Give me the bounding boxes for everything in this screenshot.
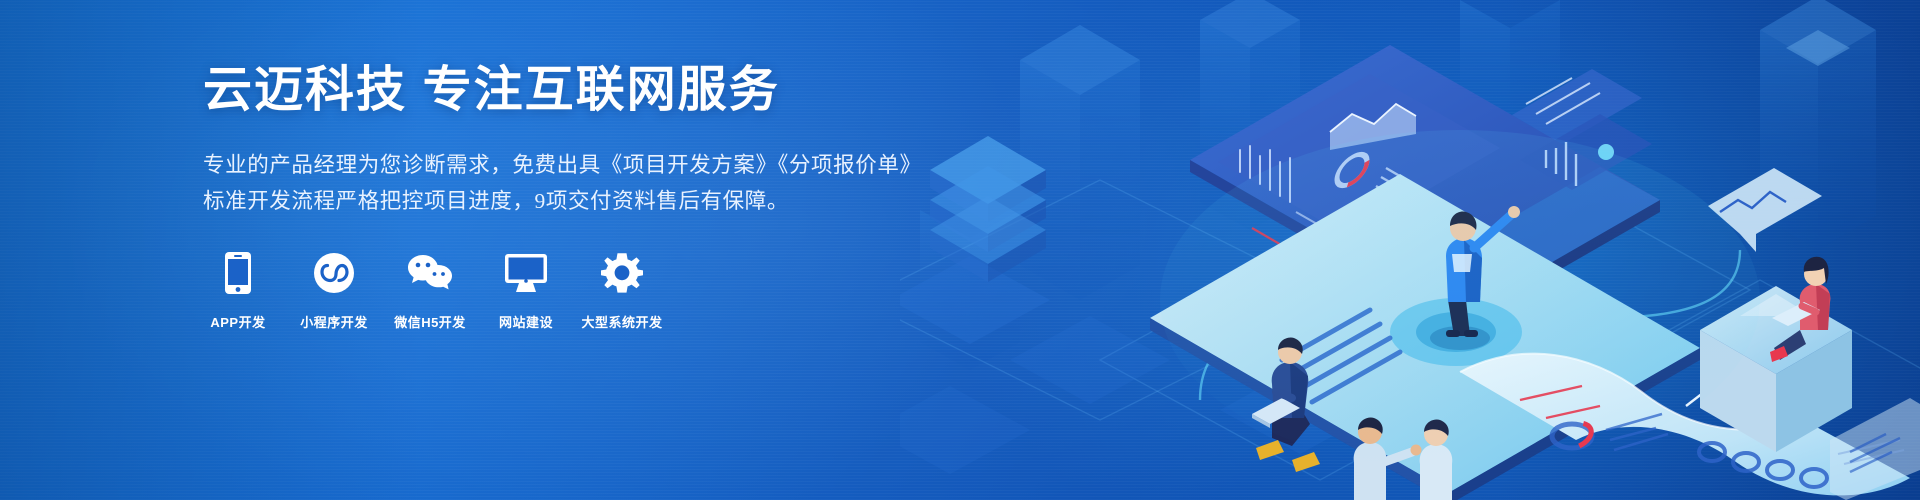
service-label: 网站建设 [499, 312, 553, 331]
banner-content: 云迈科技 专注互联网服务 专业的产品经理为您诊断需求，免费出具《项目开发方案》《… [203, 62, 903, 331]
wechat-icon [407, 251, 453, 295]
service-list: APP开发 小程序开发 [203, 251, 903, 331]
service-label: 小程序开发 [300, 312, 368, 331]
service-label: 微信H5开发 [394, 312, 466, 331]
gear-icon [601, 251, 643, 295]
service-item-wechat-h5[interactable]: 微信H5开发 [395, 251, 465, 331]
subtitle-line-1: 专业的产品经理为您诊断需求，免费出具《项目开发方案》《分项报价单》 [203, 147, 903, 183]
hero-banner: 云迈科技 专注互联网服务 专业的产品经理为您诊断需求，免费出具《项目开发方案》《… [0, 0, 1920, 500]
service-item-website[interactable]: 网站建设 [491, 251, 561, 331]
mini-program-icon [313, 251, 355, 295]
side-data-panel [1830, 398, 1920, 500]
banner-title: 云迈科技 专注互联网服务 [203, 62, 903, 120]
illustration-svg [900, 0, 1920, 500]
subtitle-line-2: 标准开发流程严格把控项目进度，9项交付资料售后有保障。 [203, 183, 903, 219]
mobile-phone-icon [223, 251, 253, 295]
monitor-icon [504, 251, 548, 295]
service-item-mini-program[interactable]: 小程序开发 [299, 251, 369, 331]
service-item-large-system[interactable]: 大型系统开发 [587, 251, 657, 331]
service-label: 大型系统开发 [582, 312, 663, 331]
service-item-app[interactable]: APP开发 [203, 251, 273, 331]
service-label: APP开发 [210, 312, 265, 331]
banner-subtitle: 专业的产品经理为您诊断需求，免费出具《项目开发方案》《分项报价单》 标准开发流程… [203, 147, 903, 219]
isometric-illustration [900, 0, 1920, 500]
